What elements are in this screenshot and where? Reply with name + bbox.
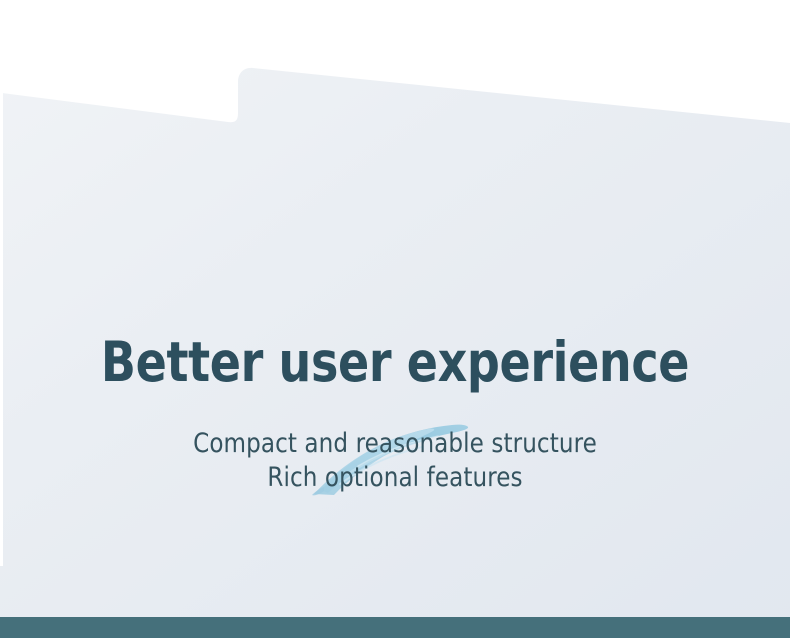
subtitle-line-2: Rich optional features xyxy=(20,461,771,495)
footer-accent-band xyxy=(0,617,790,638)
slide-canvas: Better user experience Compact and reaso… xyxy=(0,0,790,638)
slide-content: Better user experience Compact and reaso… xyxy=(0,0,790,638)
page-title: Better user experience xyxy=(28,330,763,394)
page-subtitle: Compact and reasonable structure Rich op… xyxy=(20,427,771,495)
subtitle-line-1: Compact and reasonable structure xyxy=(20,427,771,461)
